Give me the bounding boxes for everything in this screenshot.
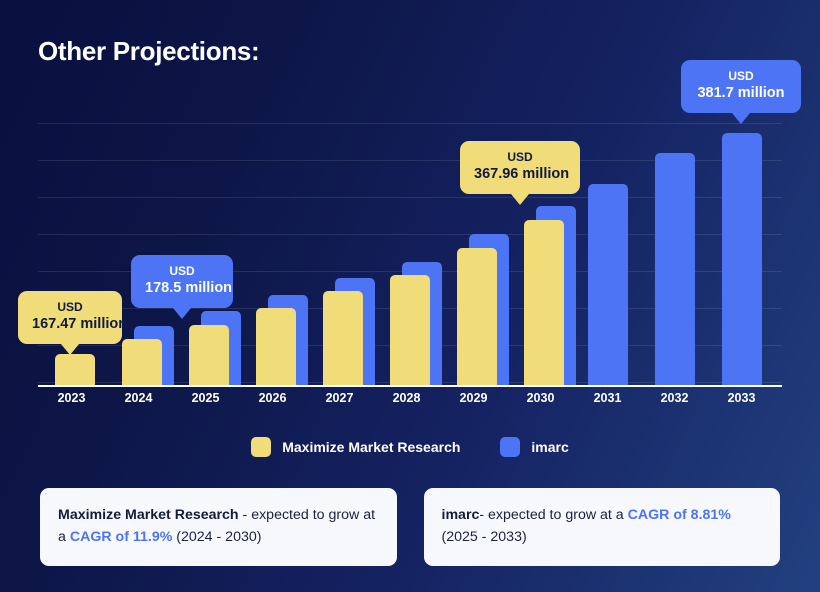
bar-maximize[interactable]	[189, 325, 229, 386]
bar-maximize[interactable]	[457, 248, 497, 386]
legend-item-imarc[interactable]: imarc	[500, 437, 568, 457]
legend-label-maximize: Maximize Market Research	[282, 439, 460, 455]
x-axis-label: 2023	[38, 391, 105, 405]
tooltip-value: 381.7 million	[695, 84, 787, 103]
x-axis-label: 2024	[105, 391, 172, 405]
bar-maximize[interactable]	[55, 354, 95, 386]
bar-imarc[interactable]	[655, 153, 695, 386]
data-tooltip-2033: USD381.7 million	[681, 60, 801, 113]
bar-group	[306, 118, 373, 386]
tooltip-currency: USD	[474, 150, 566, 165]
bar-group	[641, 118, 708, 386]
bar-group	[708, 118, 775, 386]
bar-group	[239, 118, 306, 386]
legend-swatch-imarc	[500, 437, 520, 457]
card-maximize-range: (2024 - 2030)	[172, 529, 261, 545]
x-axis-label: 2029	[440, 391, 507, 405]
card-imarc-range: (2025 - 2033)	[442, 529, 527, 545]
x-axis-label: 2031	[574, 391, 641, 405]
tooltip-currency: USD	[145, 264, 219, 279]
x-axis-label: 2027	[306, 391, 373, 405]
x-axis-label: 2032	[641, 391, 708, 405]
bar-imarc[interactable]	[588, 184, 628, 386]
card-maximize-cagr: CAGR of 11.9%	[70, 529, 173, 545]
tooltip-value: 167.47 million	[32, 315, 108, 334]
x-axis-line	[38, 385, 782, 387]
x-axis-label: 2028	[373, 391, 440, 405]
card-maximize: Maximize Market Research - expected to g…	[40, 488, 397, 566]
tooltip-value: 178.5 million	[145, 279, 219, 298]
page-title: Other Projections:	[38, 36, 259, 67]
tooltip-currency: USD	[695, 69, 787, 84]
bar-maximize[interactable]	[524, 220, 564, 386]
card-maximize-name: Maximize Market Research	[58, 507, 239, 523]
bar-imarc[interactable]	[722, 133, 762, 386]
x-axis-label: 2030	[507, 391, 574, 405]
legend-label-imarc: imarc	[531, 439, 568, 455]
bar-group	[172, 118, 239, 386]
data-tooltip-2030: USD367.96 million	[460, 141, 580, 194]
chart-legend: Maximize Market Research imarc	[0, 437, 820, 457]
chart-plot-area	[38, 118, 782, 386]
bar-group	[574, 118, 641, 386]
legend-swatch-maximize	[251, 437, 271, 457]
card-imarc-cagr: CAGR of 8.81%	[628, 507, 731, 523]
tooltip-currency: USD	[32, 300, 108, 315]
data-tooltip-2024: USD178.5 million	[131, 255, 233, 308]
bar-maximize[interactable]	[323, 291, 363, 386]
bar-group	[373, 118, 440, 386]
tooltip-value: 367.96 million	[474, 165, 566, 184]
card-imarc-mid: - expected to grow at a	[479, 507, 627, 523]
x-axis-label: 2025	[172, 391, 239, 405]
data-tooltip-2023: USD167.47 million	[18, 291, 122, 344]
bar-maximize[interactable]	[122, 339, 162, 386]
bar-group	[105, 118, 172, 386]
bar-maximize[interactable]	[390, 275, 430, 386]
card-imarc: imarc- expected to grow at a CAGR of 8.8…	[424, 488, 781, 566]
card-imarc-name: imarc	[442, 507, 480, 523]
x-axis-label: 2033	[708, 391, 775, 405]
legend-item-maximize[interactable]: Maximize Market Research	[251, 437, 460, 457]
x-axis-label: 2026	[239, 391, 306, 405]
bar-maximize[interactable]	[256, 308, 296, 386]
footnote-cards: Maximize Market Research - expected to g…	[40, 488, 780, 566]
